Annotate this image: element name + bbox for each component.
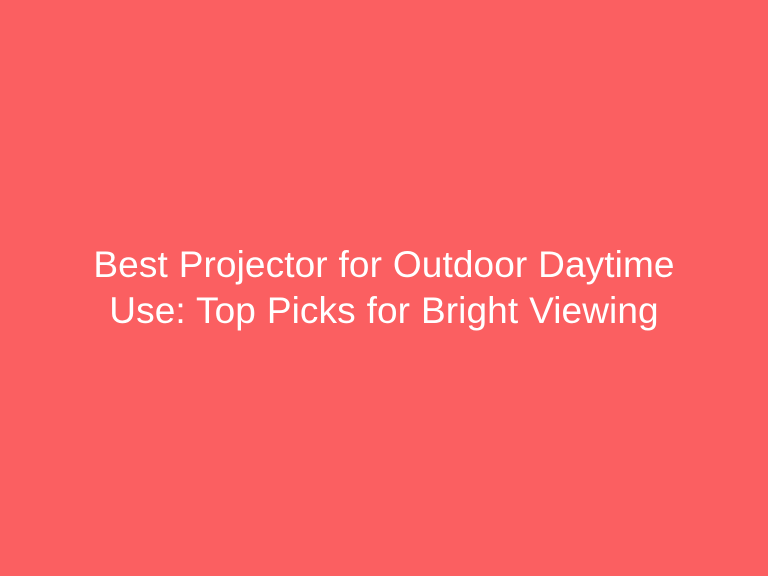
hero-title-block: Best Projector for Outdoor Daytime Use: … bbox=[54, 242, 714, 334]
hero-banner: Best Projector for Outdoor Daytime Use: … bbox=[0, 0, 768, 576]
page-title: Best Projector for Outdoor Daytime Use: … bbox=[54, 242, 714, 334]
